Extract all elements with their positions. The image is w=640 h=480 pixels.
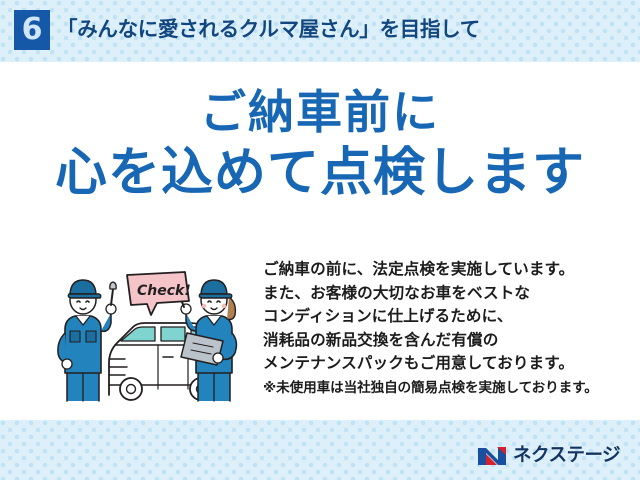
nextage-logo: ネクステージ — [477, 442, 620, 470]
mechanics-illustration: Check! — [55, 267, 255, 402]
description-line: メンテナンスパックもご用意しております。 — [263, 352, 633, 376]
description-note: ※未使用車は当社独自の簡易点検を実施しております。 — [263, 378, 633, 398]
check-bubble-text: Check! — [137, 283, 191, 299]
section-number-badge: 6 — [14, 10, 50, 50]
description-line: また、お客様の大切なお車をベストな — [263, 282, 633, 306]
banner-header: 6 「みんなに愛されるクルマ屋さん」を目指して — [0, 0, 640, 62]
male-mechanic — [58, 280, 116, 401]
page-title-line-1: ご納車前に — [0, 84, 640, 140]
description-block: ご納車の前に、法定点検を実施しています。 また、お客様の大切なお車をベストな コ… — [263, 258, 633, 398]
description-line: 消耗品の新品交換を含んだ有償の — [263, 329, 633, 353]
page-title-line-2: 心を込めて点検します — [0, 142, 640, 205]
promo-banner: 6 「みんなに愛されるクルマ屋さん」を目指して ご納車前に 心を込めて点検します… — [0, 0, 640, 480]
page-title: ご納車前に 心を込めて点検します — [0, 84, 640, 206]
content-panel: ご納車前に 心を込めて点検します ご納車の前に、法定点検を実施しています。 また… — [0, 62, 640, 420]
description-line: コンディションに仕上げるために、 — [263, 305, 633, 329]
description-line: ご納車の前に、法定点検を実施しています。 — [263, 258, 633, 282]
nextage-logo-text: ネクステージ — [513, 447, 620, 466]
nextage-n-mark — [477, 445, 507, 467]
header-tagline: 「みんなに愛されるクルマ屋さん」を目指して — [57, 14, 480, 46]
